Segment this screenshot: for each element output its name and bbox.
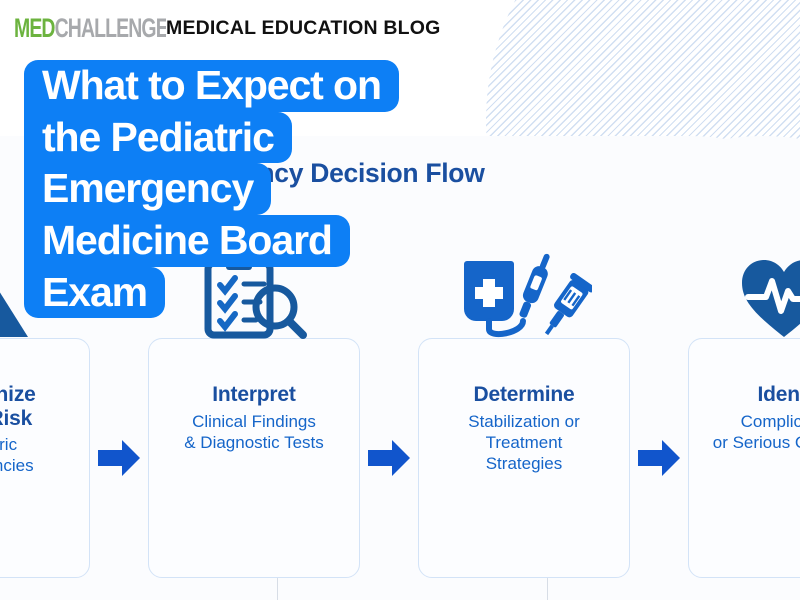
flow-card-title: Determine — [474, 383, 575, 407]
logo-text-med: MED — [14, 13, 55, 44]
flow-card-title: Interpret — [212, 383, 295, 407]
post-title-line: Medicine Board — [24, 215, 350, 267]
blog-hero-graphic: MEDCHALLENGER. MEDICAL EDUCATION BLOG Em… — [0, 0, 800, 600]
post-title-line: Emergency — [24, 163, 271, 215]
arrow-right-icon — [366, 438, 412, 478]
flow-arrow-2 — [360, 338, 418, 578]
flow-arrow-3 — [630, 338, 688, 578]
blog-section-label: MEDICAL EDUCATION BLOG — [166, 17, 441, 40]
logo-text-challenger: CHALLENGER — [55, 13, 166, 44]
post-title: What to Expect on the Pediatric Emergenc… — [24, 60, 484, 318]
heart-pulse-icon — [689, 255, 800, 341]
site-header: MEDCHALLENGER. MEDICAL EDUCATION BLOG — [0, 0, 800, 56]
arrow-right-icon — [96, 438, 142, 478]
post-title-line: the Pediatric — [24, 112, 292, 164]
flow-card-subtitle: Complications or Serious Conditions — [707, 411, 800, 453]
post-title-line: Exam — [24, 267, 165, 319]
flow-card-subtitle: Pediatric Emergencies — [0, 434, 40, 476]
post-title-line: What to Expect on — [24, 60, 399, 112]
medchallenger-logo[interactable]: MEDCHALLENGER. — [14, 13, 166, 44]
flow-card-determine[interactable]: Determine Stabilization or Treatment Str… — [418, 338, 630, 578]
flow-card-subtitle: Stabilization or Treatment Strategies — [462, 411, 586, 474]
arrow-right-icon — [636, 438, 682, 478]
flow-card-title: Identify — [757, 383, 800, 407]
flow-card-title: Recognize High-Risk — [0, 383, 36, 430]
flow-arrow-1 — [90, 338, 148, 578]
flow-card-interpret[interactable]: Interpret Clinical Findings & Diagnostic… — [148, 338, 360, 578]
flow-card-identify[interactable]: Identify Complications or Serious Condit… — [688, 338, 800, 578]
flow-card-subtitle: Clinical Findings & Diagnostic Tests — [178, 411, 330, 453]
flow-card-recognize[interactable]: Recognize High-Risk Pediatric Emergencie… — [0, 338, 90, 578]
